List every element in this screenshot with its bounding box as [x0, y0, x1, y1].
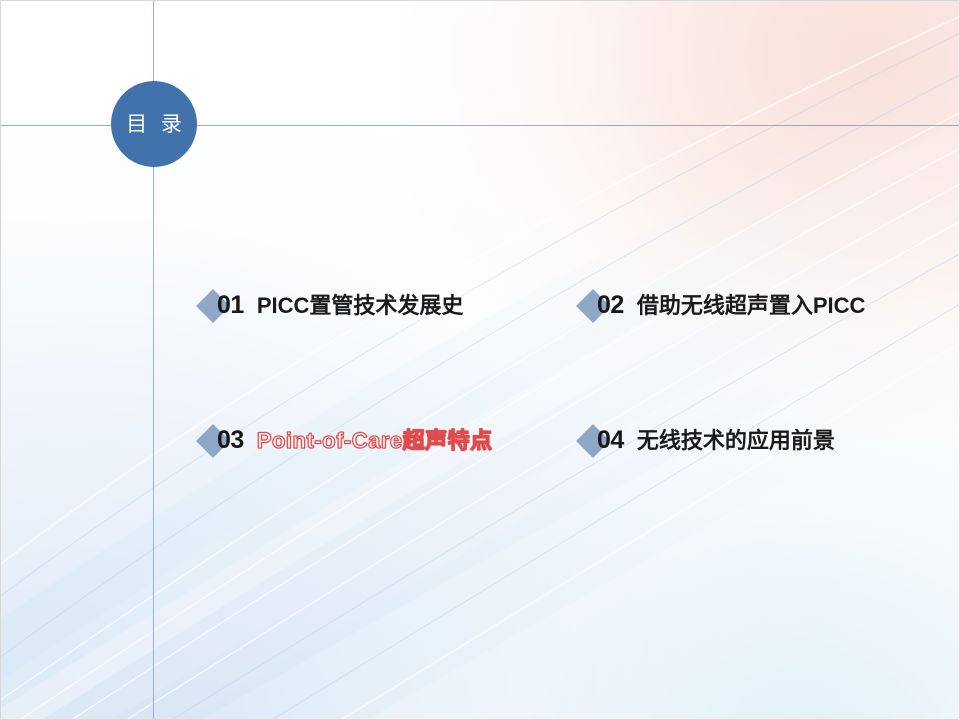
toc-title-label: 目 录: [122, 114, 186, 135]
agenda-item-number: 04: [597, 428, 624, 453]
toc-title-badge: 目 录: [111, 81, 197, 167]
agenda-item-label: PICC置管技术发展史: [257, 295, 464, 317]
agenda-item-label: 无线技术的应用前景: [637, 430, 835, 452]
agenda-list: 01 PICC置管技术发展史 02 借助无线超声置入PICC 03 Point-…: [201, 293, 941, 453]
agenda-row: 01 PICC置管技术发展史 02 借助无线超声置入PICC: [201, 293, 941, 318]
agenda-item-number: 01: [217, 293, 244, 318]
agenda-item-label: 借助无线超声置入PICC: [637, 295, 866, 317]
warm-glow-accent: [579, 0, 960, 321]
agenda-item-number: 02: [597, 293, 624, 318]
agenda-item-label-active: Point-of-Care超声特点: [257, 430, 493, 452]
agenda-slide: 目 录 01 PICC置管技术发展史 02 借助无线超声置入PICC 03 Po…: [0, 0, 960, 720]
agenda-item-02[interactable]: 02 借助无线超声置入PICC: [581, 293, 941, 318]
agenda-item-03[interactable]: 03 Point-of-Care超声特点: [201, 428, 581, 453]
agenda-row: 03 Point-of-Care超声特点 04 无线技术的应用前景: [201, 428, 941, 453]
agenda-item-04[interactable]: 04 无线技术的应用前景: [581, 428, 941, 453]
agenda-item-01[interactable]: 01 PICC置管技术发展史: [201, 293, 581, 318]
agenda-item-number: 03: [217, 428, 244, 453]
